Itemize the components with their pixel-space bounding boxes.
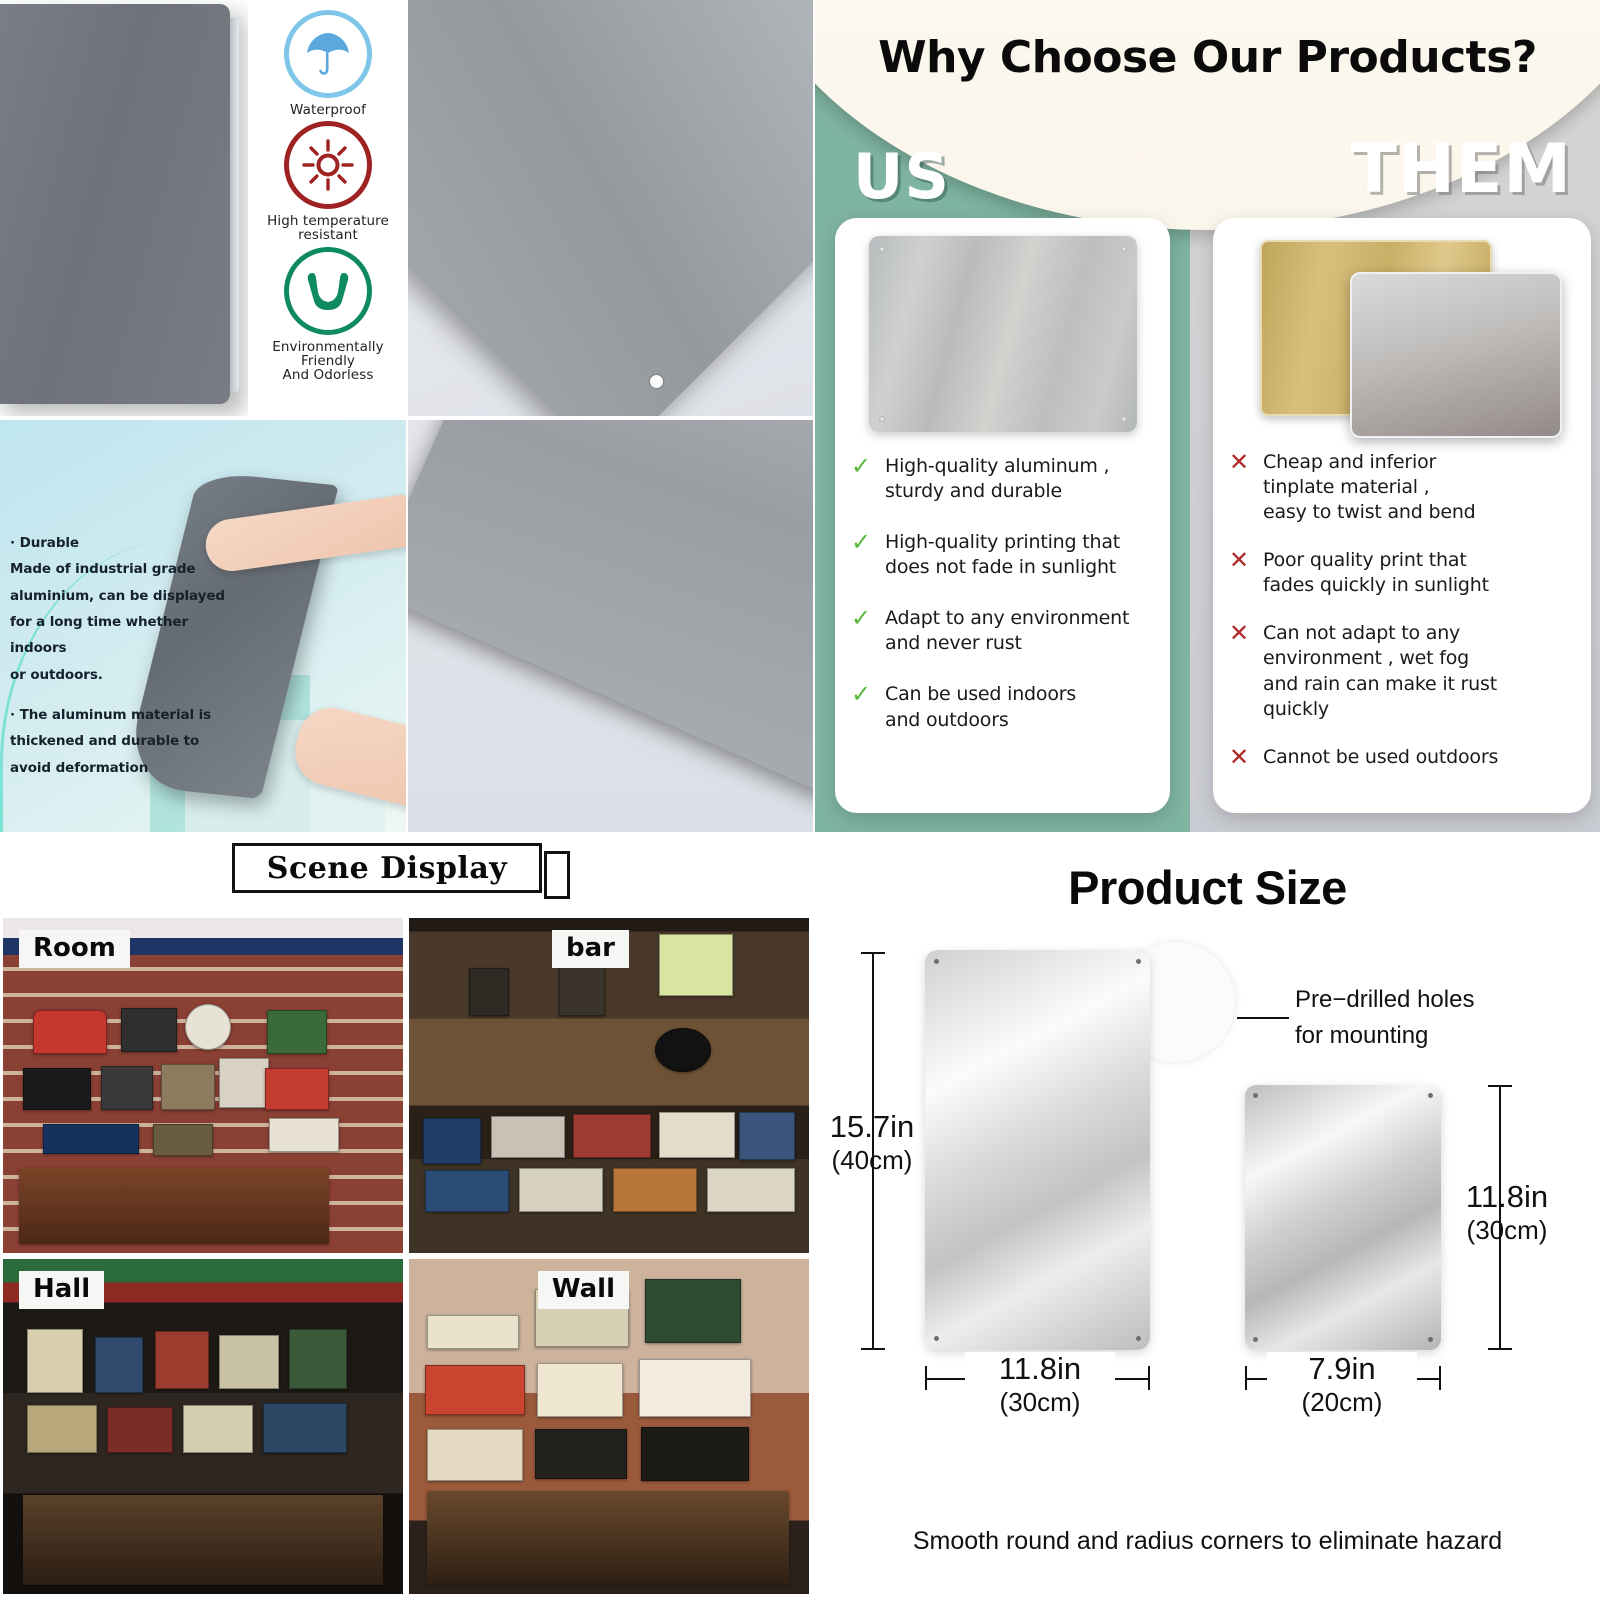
list-item: ✓ Can be used indoors and outdoors <box>851 682 1156 732</box>
decor-sign <box>655 1028 711 1072</box>
drill-hole-icon <box>934 959 939 964</box>
decor-plate <box>739 1112 795 1160</box>
list-item: ✓ Adapt to any environment and never rus… <box>851 606 1156 656</box>
decor-plate <box>659 1112 735 1158</box>
scene-display-banner: Scene Display <box>232 843 572 899</box>
flex-demo-photo: · Durable Made of industrial grade alumi… <box>0 420 406 832</box>
benefit-text: Adapt to any environment and never rust <box>885 606 1129 656</box>
decor-sign <box>155 1331 209 1389</box>
decor-sign <box>469 968 509 1016</box>
sun-icon <box>284 121 372 209</box>
decor-sign <box>425 1365 525 1415</box>
product-size-section: Product Size Pre−drilled holes for mount… <box>815 832 1600 1600</box>
why-choose-section: Why Choose Our Products? US THEM ✓ High-… <box>815 0 1600 832</box>
us-label: US <box>853 140 950 213</box>
cross-icon: ✕ <box>1229 548 1263 573</box>
cross-icon: ✕ <box>1229 450 1263 475</box>
drill-hole-icon <box>1253 1337 1258 1342</box>
large-height-label: 15.7in (40cm) <box>807 1110 937 1176</box>
decor-sign <box>27 1329 83 1393</box>
drawback-text: Cheap and inferior tinplate material , e… <box>1263 450 1476 525</box>
them-product-image <box>1213 234 1591 434</box>
decor-plate <box>707 1168 795 1212</box>
benefit-text: High-quality printing that does not fade… <box>885 530 1120 580</box>
product-photo-quadrant: Waterproof <box>0 0 815 832</box>
decor-sign <box>535 1429 627 1479</box>
us-comparison-card: ✓ High-quality aluminum , sturdy and dur… <box>835 218 1170 813</box>
check-icon: ✓ <box>851 606 885 631</box>
scene-tag: Hall <box>19 1271 104 1309</box>
cross-icon: ✕ <box>1229 621 1263 646</box>
scene-tag: Room <box>19 930 130 968</box>
decor-sign <box>33 1010 107 1054</box>
dim-tick <box>1488 1085 1512 1087</box>
drill-hole-icon <box>934 1336 939 1341</box>
eco-hands-icon <box>284 247 372 335</box>
decor-sign <box>219 1058 269 1108</box>
drawback-text: Cannot be used outdoors <box>1263 745 1498 770</box>
list-item: ✕ Poor quality print that fades quickly … <box>1229 548 1577 598</box>
list-item: ✓ High-quality aluminum , sturdy and dur… <box>851 454 1156 504</box>
scene-display-title: Scene Display <box>267 851 507 886</box>
decor-sign <box>269 1118 339 1152</box>
decor-sign <box>183 1405 253 1453</box>
decor-sign <box>185 1004 231 1050</box>
decor-plate <box>519 1168 603 1212</box>
decor-plate <box>573 1114 651 1158</box>
decor-sign <box>27 1405 97 1453</box>
small-sign-image <box>1245 1085 1441 1350</box>
drill-hole-icon <box>879 416 885 422</box>
banner-box-main: Scene Display <box>232 843 542 893</box>
metal-sheet-corner-photo <box>408 0 813 416</box>
feature-high-temperature: High temperatureresistant <box>248 121 408 242</box>
decor-bar-counter <box>427 1491 789 1585</box>
decor-sign <box>107 1407 173 1453</box>
scene-cell-hall: Hall <box>3 1259 403 1594</box>
drill-hole-icon <box>1428 1093 1433 1098</box>
decor-sign <box>267 1010 327 1054</box>
product-infographic: Waterproof <box>0 0 1600 1600</box>
benefit-text: High-quality aluminum , sturdy and durab… <box>885 454 1109 504</box>
decor-sign <box>95 1337 143 1393</box>
why-choose-title: Why Choose Our Products? <box>815 32 1600 83</box>
drawback-text: Poor quality print that fades quickly in… <box>1263 548 1489 598</box>
durable-block-2: · The aluminum material is thickened and… <box>10 707 211 776</box>
decor-sign <box>101 1066 153 1110</box>
decor-bar-counter <box>23 1495 383 1585</box>
large-width-label: 11.8in (30cm) <box>965 1352 1115 1418</box>
feature-label: High temperatureresistant <box>267 214 389 242</box>
benefit-text: Can be used indoors and outdoors <box>885 682 1076 732</box>
decor-sign <box>639 1359 751 1417</box>
durable-block-1: · Durable Made of industrial grade alumi… <box>10 535 225 683</box>
drill-hole-icon <box>1253 1093 1258 1098</box>
decor-sign <box>427 1315 519 1349</box>
feature-icons-column: Waterproof <box>248 0 408 416</box>
them-drawback-list: ✕ Cheap and inferior tinplate material ,… <box>1229 450 1577 793</box>
decor-sign <box>219 1335 279 1389</box>
decor-sign <box>289 1329 347 1389</box>
dim-tick <box>861 952 885 954</box>
decor-sign <box>265 1068 329 1110</box>
metal-sheet-image <box>408 420 813 832</box>
feature-label: EnvironmentallyFriendlyAnd Odorless <box>272 340 383 383</box>
decor-plate <box>613 1168 697 1212</box>
scene-thumbnail-grid: Room bar <box>3 918 809 1594</box>
dim-tick <box>925 1366 927 1390</box>
decor-desk <box>19 1168 329 1244</box>
decor-sign <box>23 1068 91 1110</box>
drawback-text: Can not adapt to any environment , wet f… <box>1263 621 1497 721</box>
drill-hole-icon <box>879 246 885 252</box>
decor-sign <box>263 1403 347 1453</box>
scene-cell-room: Room <box>3 918 403 1253</box>
diagonal-metal-photo <box>408 420 813 832</box>
dim-tick <box>1439 1366 1441 1390</box>
check-icon: ✓ <box>851 682 885 707</box>
drill-hole-icon <box>1121 246 1127 252</box>
aluminum-sign-image <box>869 236 1137 432</box>
scene-tag: bar <box>552 930 629 968</box>
product-size-title: Product Size <box>815 860 1600 915</box>
decor-sign <box>537 1363 623 1417</box>
decor-sign <box>153 1124 213 1156</box>
dim-tick <box>1245 1366 1247 1390</box>
banner-box-accent <box>544 851 570 899</box>
us-product-image <box>835 234 1170 434</box>
decor-plate <box>423 1118 481 1164</box>
feature-eco-friendly: EnvironmentallyFriendlyAnd Odorless <box>248 247 408 383</box>
umbrella-icon <box>284 10 372 98</box>
product-size-footnote: Smooth round and radius corners to elimi… <box>815 1527 1600 1556</box>
tinplate-signs-image <box>1252 236 1552 432</box>
drill-hole-icon <box>1136 1336 1141 1341</box>
drill-hole-icon <box>1136 959 1141 964</box>
scene-cell-bar: bar <box>409 918 809 1253</box>
list-item: ✕ Can not adapt to any environment , wet… <box>1229 621 1577 721</box>
durable-description: · Durable Made of industrial grade alumi… <box>10 530 225 781</box>
drill-hole-icon <box>650 375 663 388</box>
silver-sign-image <box>1350 272 1562 438</box>
cross-icon: ✕ <box>1229 745 1263 770</box>
dim-tick <box>1488 1348 1512 1350</box>
list-item: ✕ Cheap and inferior tinplate material ,… <box>1229 450 1577 525</box>
dim-tick <box>861 1348 885 1350</box>
them-label: THEM <box>1351 130 1572 209</box>
list-item: ✕ Cannot be used outdoors <box>1229 745 1577 770</box>
list-item: ✓ High-quality printing that does not fa… <box>851 530 1156 580</box>
small-width-label: 7.9in (20cm) <box>1267 1352 1417 1418</box>
decor-neon <box>659 934 733 996</box>
feature-waterproof: Waterproof <box>248 10 408 117</box>
check-icon: ✓ <box>851 530 885 555</box>
drill-hole-icon <box>1428 1337 1433 1342</box>
aluminum-plate-image <box>0 4 230 404</box>
scene-cell-wall: Wall <box>409 1259 809 1594</box>
feature-label: Waterproof <box>290 103 366 117</box>
decor-sign <box>161 1064 215 1110</box>
scene-tag: Wall <box>538 1271 629 1309</box>
small-height-label: 11.8in (30cm) <box>1437 1180 1577 1246</box>
decor-sign <box>427 1429 523 1481</box>
us-benefit-list: ✓ High-quality aluminum , sturdy and dur… <box>851 454 1156 759</box>
callout-leader-line <box>1237 1017 1289 1019</box>
decor-sign <box>121 1008 177 1052</box>
pre-drilled-holes-callout: Pre−drilled holes for mounting <box>1295 982 1535 1054</box>
decor-plate <box>425 1170 509 1212</box>
decor-sign <box>641 1427 749 1481</box>
dim-tick <box>1148 1366 1150 1390</box>
decor-sign <box>43 1124 139 1154</box>
them-comparison-card: ✕ Cheap and inferior tinplate material ,… <box>1213 218 1591 813</box>
decor-sign <box>559 964 605 1016</box>
drill-hole-icon <box>1121 416 1127 422</box>
check-icon: ✓ <box>851 454 885 479</box>
large-sign-image <box>925 950 1150 1350</box>
decor-plate <box>491 1116 565 1158</box>
decor-sign <box>645 1279 741 1343</box>
metal-sheet-image <box>408 0 813 416</box>
